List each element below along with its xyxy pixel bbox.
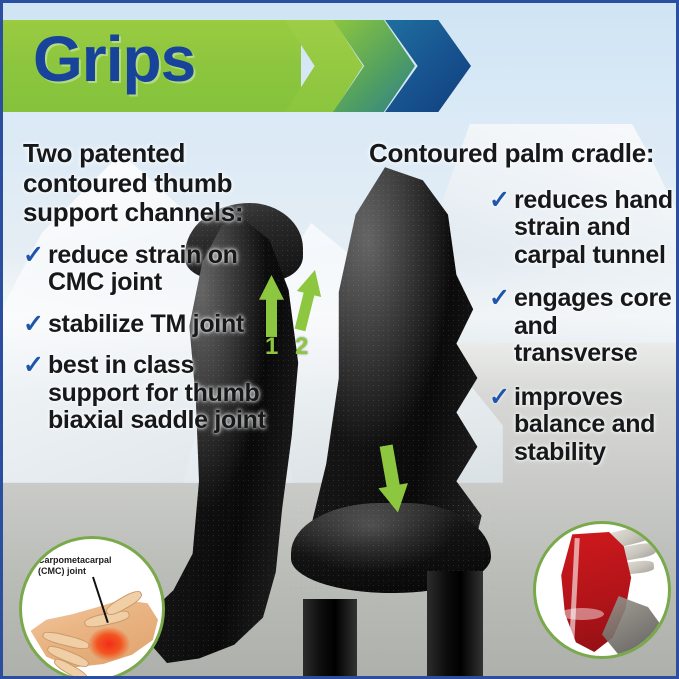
list-item-label: stabilize TM joint	[48, 311, 244, 339]
list-item: ✓ improves balance and stability	[489, 384, 675, 467]
list-item-label: best in class support for thumb biaxial …	[48, 352, 275, 435]
list-item-label: engages core and transverse	[514, 285, 675, 368]
channel-2-number: 2	[295, 333, 308, 361]
infographic-page: 1 2 Grips Two patented contoured thumb s…	[0, 0, 679, 679]
check-icon: ✓	[23, 242, 44, 270]
muscle-fiber-marking	[560, 608, 604, 620]
pole-shaft-left	[303, 599, 357, 679]
list-item-label: reduce strain on CMC joint	[48, 242, 275, 297]
header-banner: Grips	[3, 3, 679, 124]
cmc-joint-label: Carpometacarpal (CMC) joint	[38, 555, 112, 578]
left-bullet-list: ✓ reduce strain on CMC joint ✓ stabilize…	[23, 242, 275, 435]
check-icon: ✓	[489, 187, 510, 215]
check-icon: ✓	[489, 285, 510, 313]
cmc-label-line-1: Carpometacarpal	[38, 555, 112, 566]
left-feature-column: Two patented contoured thumb support cha…	[23, 139, 275, 449]
list-item: ✓ stabilize TM joint	[23, 311, 275, 339]
right-bullet-list: ✓ reduces hand strain and carpal tunnel …	[489, 187, 675, 467]
pain-highlight	[88, 627, 130, 661]
page-title: Grips	[33, 27, 195, 91]
list-item-label: reduces hand strain and carpal tunnel	[514, 187, 675, 270]
core-muscle-inset	[533, 521, 671, 659]
list-item-label: improves balance and stability	[514, 384, 675, 467]
list-item: ✓ best in class support for thumb biaxia…	[23, 352, 275, 435]
list-item: ✓ engages core and transverse	[489, 285, 675, 368]
right-feature-column: Contoured palm cradle: ✓ reduces hand st…	[365, 139, 675, 482]
pole-shaft-right	[427, 571, 483, 679]
right-column-heading: Contoured palm cradle:	[369, 139, 675, 169]
cmc-joint-inset: Carpometacarpal (CMC) joint	[19, 536, 165, 679]
list-item: ✓ reduce strain on CMC joint	[23, 242, 275, 297]
list-item: ✓ reduces hand strain and carpal tunnel	[489, 187, 675, 270]
check-icon: ✓	[23, 311, 44, 339]
check-icon: ✓	[489, 384, 510, 412]
check-icon: ✓	[23, 352, 44, 380]
cmc-label-line-2: (CMC) joint	[38, 566, 112, 577]
left-column-heading: Two patented contoured thumb support cha…	[23, 139, 275, 228]
